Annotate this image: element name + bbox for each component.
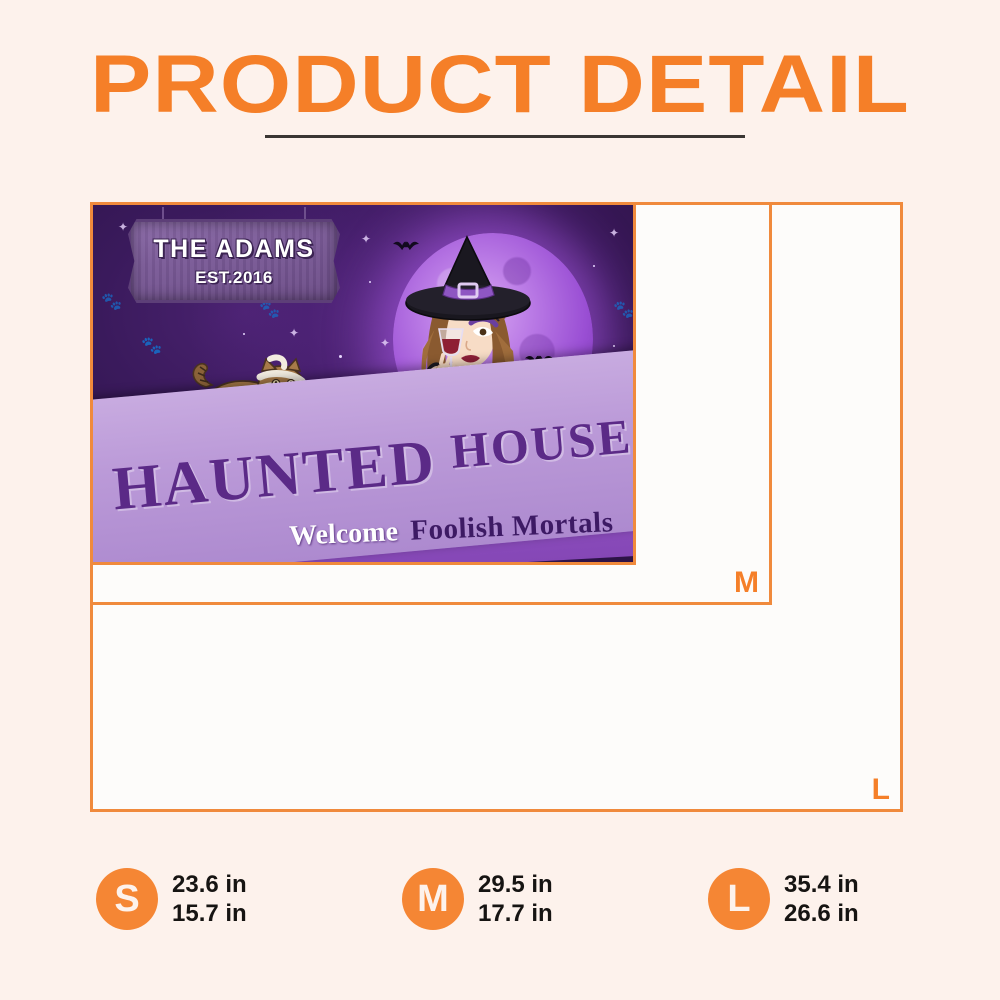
haunted-house-sign-artwork: ✦ ✦ ✦ ✦ ✦ 🐾 🐾 🐾 🐾 THE ADAMS bbox=[93, 205, 633, 562]
plaque-chain bbox=[162, 207, 164, 221]
size-box-large-label: L bbox=[872, 775, 890, 805]
star bbox=[613, 345, 615, 347]
star bbox=[593, 265, 595, 267]
legend-item-small[interactable]: S 23.6 in 15.7 in bbox=[96, 868, 247, 930]
size-box-medium-label: M bbox=[734, 568, 759, 598]
legend-dimensions-small: 23.6 in 15.7 in bbox=[172, 870, 247, 928]
legend-height-medium: 17.7 in bbox=[478, 899, 553, 928]
established-year-text: EST.2016 bbox=[195, 268, 273, 288]
plaque-board: THE ADAMS EST.2016 bbox=[128, 219, 340, 303]
family-name-text: THE ADAMS bbox=[153, 235, 314, 264]
family-name-plaque: THE ADAMS EST.2016 bbox=[128, 219, 340, 303]
legend-badge-large: L bbox=[708, 868, 770, 930]
subtitle-welcome-text: Welcome bbox=[288, 516, 398, 552]
legend-dimensions-large: 35.4 in 26.6 in bbox=[784, 870, 859, 928]
star bbox=[243, 333, 245, 335]
sparkle-icon: ✦ bbox=[118, 221, 128, 233]
paw-print-icon: 🐾 bbox=[101, 293, 122, 310]
legend-dimensions-medium: 29.5 in 17.7 in bbox=[478, 870, 553, 928]
sparkle-icon: ✦ bbox=[609, 227, 619, 239]
paw-print-icon: 🐾 bbox=[141, 337, 162, 354]
legend-height-large: 26.6 in bbox=[784, 899, 859, 928]
page-title: PRODUCT DETAIL bbox=[0, 44, 1000, 126]
legend-badge-small: S bbox=[96, 868, 158, 930]
legend-item-large[interactable]: L 35.4 in 26.6 in bbox=[708, 868, 859, 930]
sparkle-icon: ✦ bbox=[289, 327, 299, 339]
paw-print-icon: 🐾 bbox=[259, 301, 280, 318]
legend-item-medium[interactable]: M 29.5 in 17.7 in bbox=[402, 868, 553, 930]
legend-width-small: 23.6 in bbox=[172, 870, 247, 899]
legend-width-medium: 29.5 in bbox=[478, 870, 553, 899]
legend-height-small: 15.7 in bbox=[172, 899, 247, 928]
size-box-small[interactable]: ✦ ✦ ✦ ✦ ✦ 🐾 🐾 🐾 🐾 THE ADAMS bbox=[90, 202, 636, 565]
paw-print-icon: 🐾 bbox=[613, 301, 633, 318]
size-legend: S 23.6 in 15.7 in M 29.5 in 17.7 in L 35… bbox=[90, 868, 910, 954]
legend-badge-medium: M bbox=[402, 868, 464, 930]
title-underline-divider bbox=[265, 135, 745, 138]
plaque-chain bbox=[304, 207, 306, 221]
star bbox=[339, 355, 342, 358]
legend-width-large: 35.4 in bbox=[784, 870, 859, 899]
